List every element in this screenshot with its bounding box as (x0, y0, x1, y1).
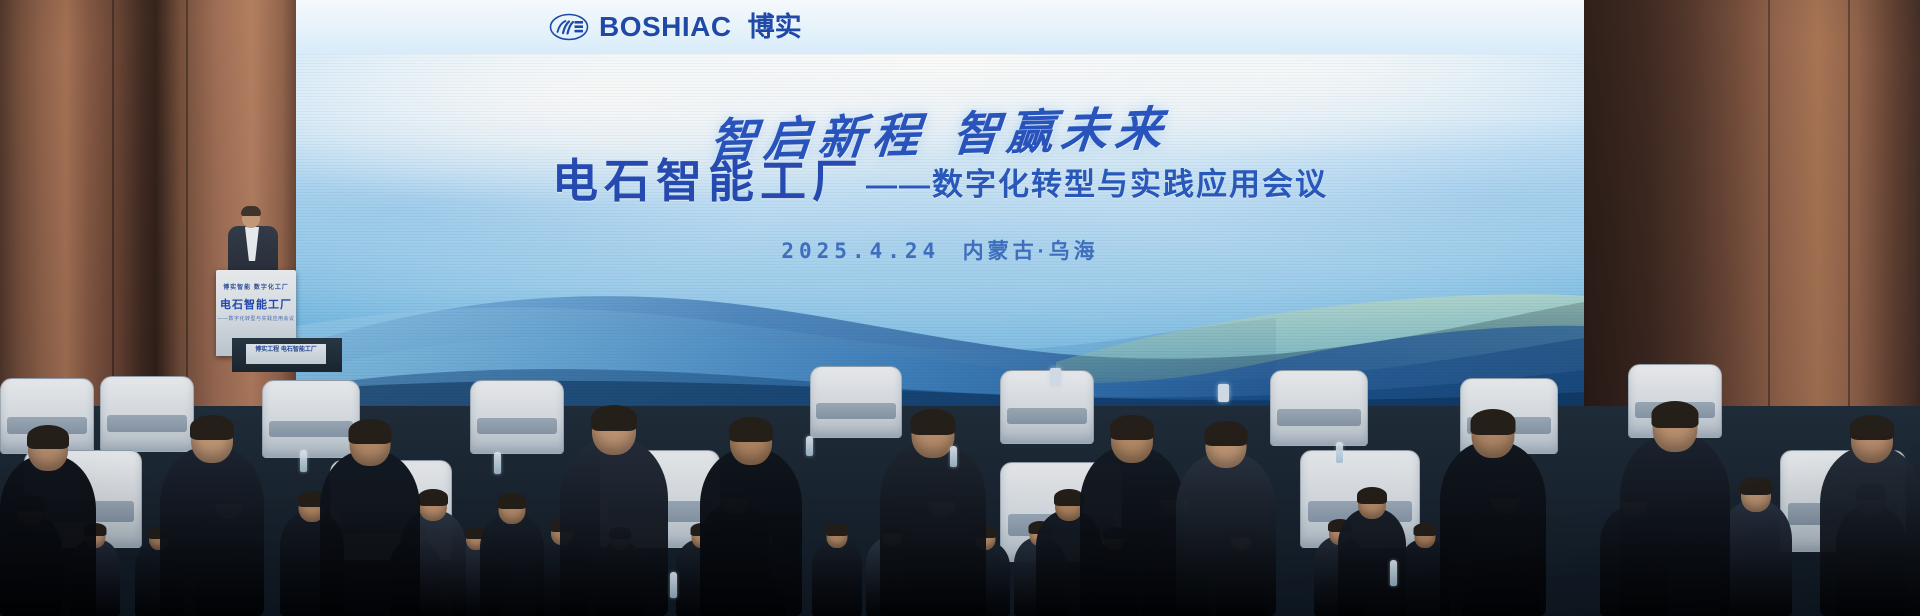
audience-person (1176, 422, 1276, 616)
person-body (1820, 446, 1920, 616)
person-body (1440, 441, 1546, 616)
person-hair (1357, 487, 1387, 504)
person-body (1080, 446, 1184, 616)
water-bottle (1336, 442, 1343, 463)
person-body (1720, 500, 1792, 616)
chair-band (477, 418, 558, 434)
audience-person (480, 494, 544, 616)
audience-person (1080, 416, 1184, 616)
person-body (1176, 452, 1276, 616)
brand-name-chinese: 博实 (748, 14, 802, 41)
audience-person (0, 426, 96, 616)
audience-person (560, 406, 668, 616)
person-body (320, 450, 420, 616)
audience-chair (470, 380, 564, 454)
person-hair (1652, 401, 1699, 428)
water-bottle (806, 436, 813, 456)
slogan-part-2: 智赢未来 (950, 104, 1172, 162)
podium-line-1: 博实智能 数字化工厂 (216, 282, 296, 291)
speaker-hair (241, 206, 261, 216)
person-hair (349, 419, 392, 444)
person-body (1620, 434, 1730, 616)
audience-chair (1270, 370, 1368, 446)
person-hair (1110, 415, 1154, 440)
screen-brand-bar: BOSHIAC 博实 (296, 0, 1584, 54)
person-hair (418, 489, 448, 506)
person-hair (911, 409, 956, 435)
event-place: 内蒙古·乌海 (963, 240, 1099, 263)
audience-person (160, 416, 264, 616)
event-meta: 2025.4.24 内蒙古·乌海 (296, 235, 1584, 265)
water-bottle (494, 452, 501, 474)
person-hair (27, 425, 69, 449)
audience-phone (1050, 368, 1061, 386)
water-bottle (670, 572, 677, 598)
person-hair (1414, 523, 1437, 536)
person-body (700, 448, 802, 616)
audience-person (812, 524, 862, 616)
person-hair (591, 405, 637, 431)
water-bottle (1390, 560, 1397, 586)
brand-name-latin: BOSHIAC (599, 13, 732, 41)
person-body (560, 438, 668, 616)
person-hair (1205, 421, 1248, 446)
water-bottle (950, 446, 957, 467)
audience-person (700, 418, 802, 616)
person-hair (190, 415, 234, 440)
person-body (160, 446, 264, 616)
water-bottle (300, 450, 307, 472)
event-title-sub: ——数字化转型与实践应用会议 (866, 169, 1328, 204)
person-hair (729, 417, 773, 442)
boshiac-logo-icon (549, 13, 589, 41)
audience-person (1338, 488, 1406, 616)
person-hair (1471, 409, 1516, 435)
event-title-main: 电石智能工厂 (552, 158, 864, 204)
person-hair (1850, 415, 1894, 440)
audience-phone (1218, 384, 1229, 402)
chair-band (1277, 409, 1362, 425)
person-hair (1740, 477, 1772, 495)
audience-person (1720, 478, 1792, 616)
person-body (812, 539, 862, 616)
audience-person (1820, 416, 1920, 616)
brand-lockup: BOSHIAC 博实 (549, 13, 802, 41)
person-hair (498, 493, 527, 509)
conference-photo: BOSHIAC 博实 智启新程智赢未来 电石智能工厂 ——数字化转型与实践应用会… (0, 0, 1920, 616)
audience-area (0, 300, 1920, 616)
audience-person (320, 420, 420, 616)
person-hair (826, 523, 849, 536)
audience-person (1440, 410, 1546, 616)
chair-band (1007, 408, 1088, 424)
audience-person (880, 410, 986, 616)
audience-person (1620, 402, 1730, 616)
speaker-at-podium (228, 207, 284, 277)
person-body (480, 513, 544, 616)
person-body (0, 455, 96, 616)
event-headline: 电石智能工厂 ——数字化转型与实践应用会议 (296, 158, 1584, 204)
person-body (880, 441, 986, 616)
event-date: 2025.4.24 (781, 239, 940, 263)
